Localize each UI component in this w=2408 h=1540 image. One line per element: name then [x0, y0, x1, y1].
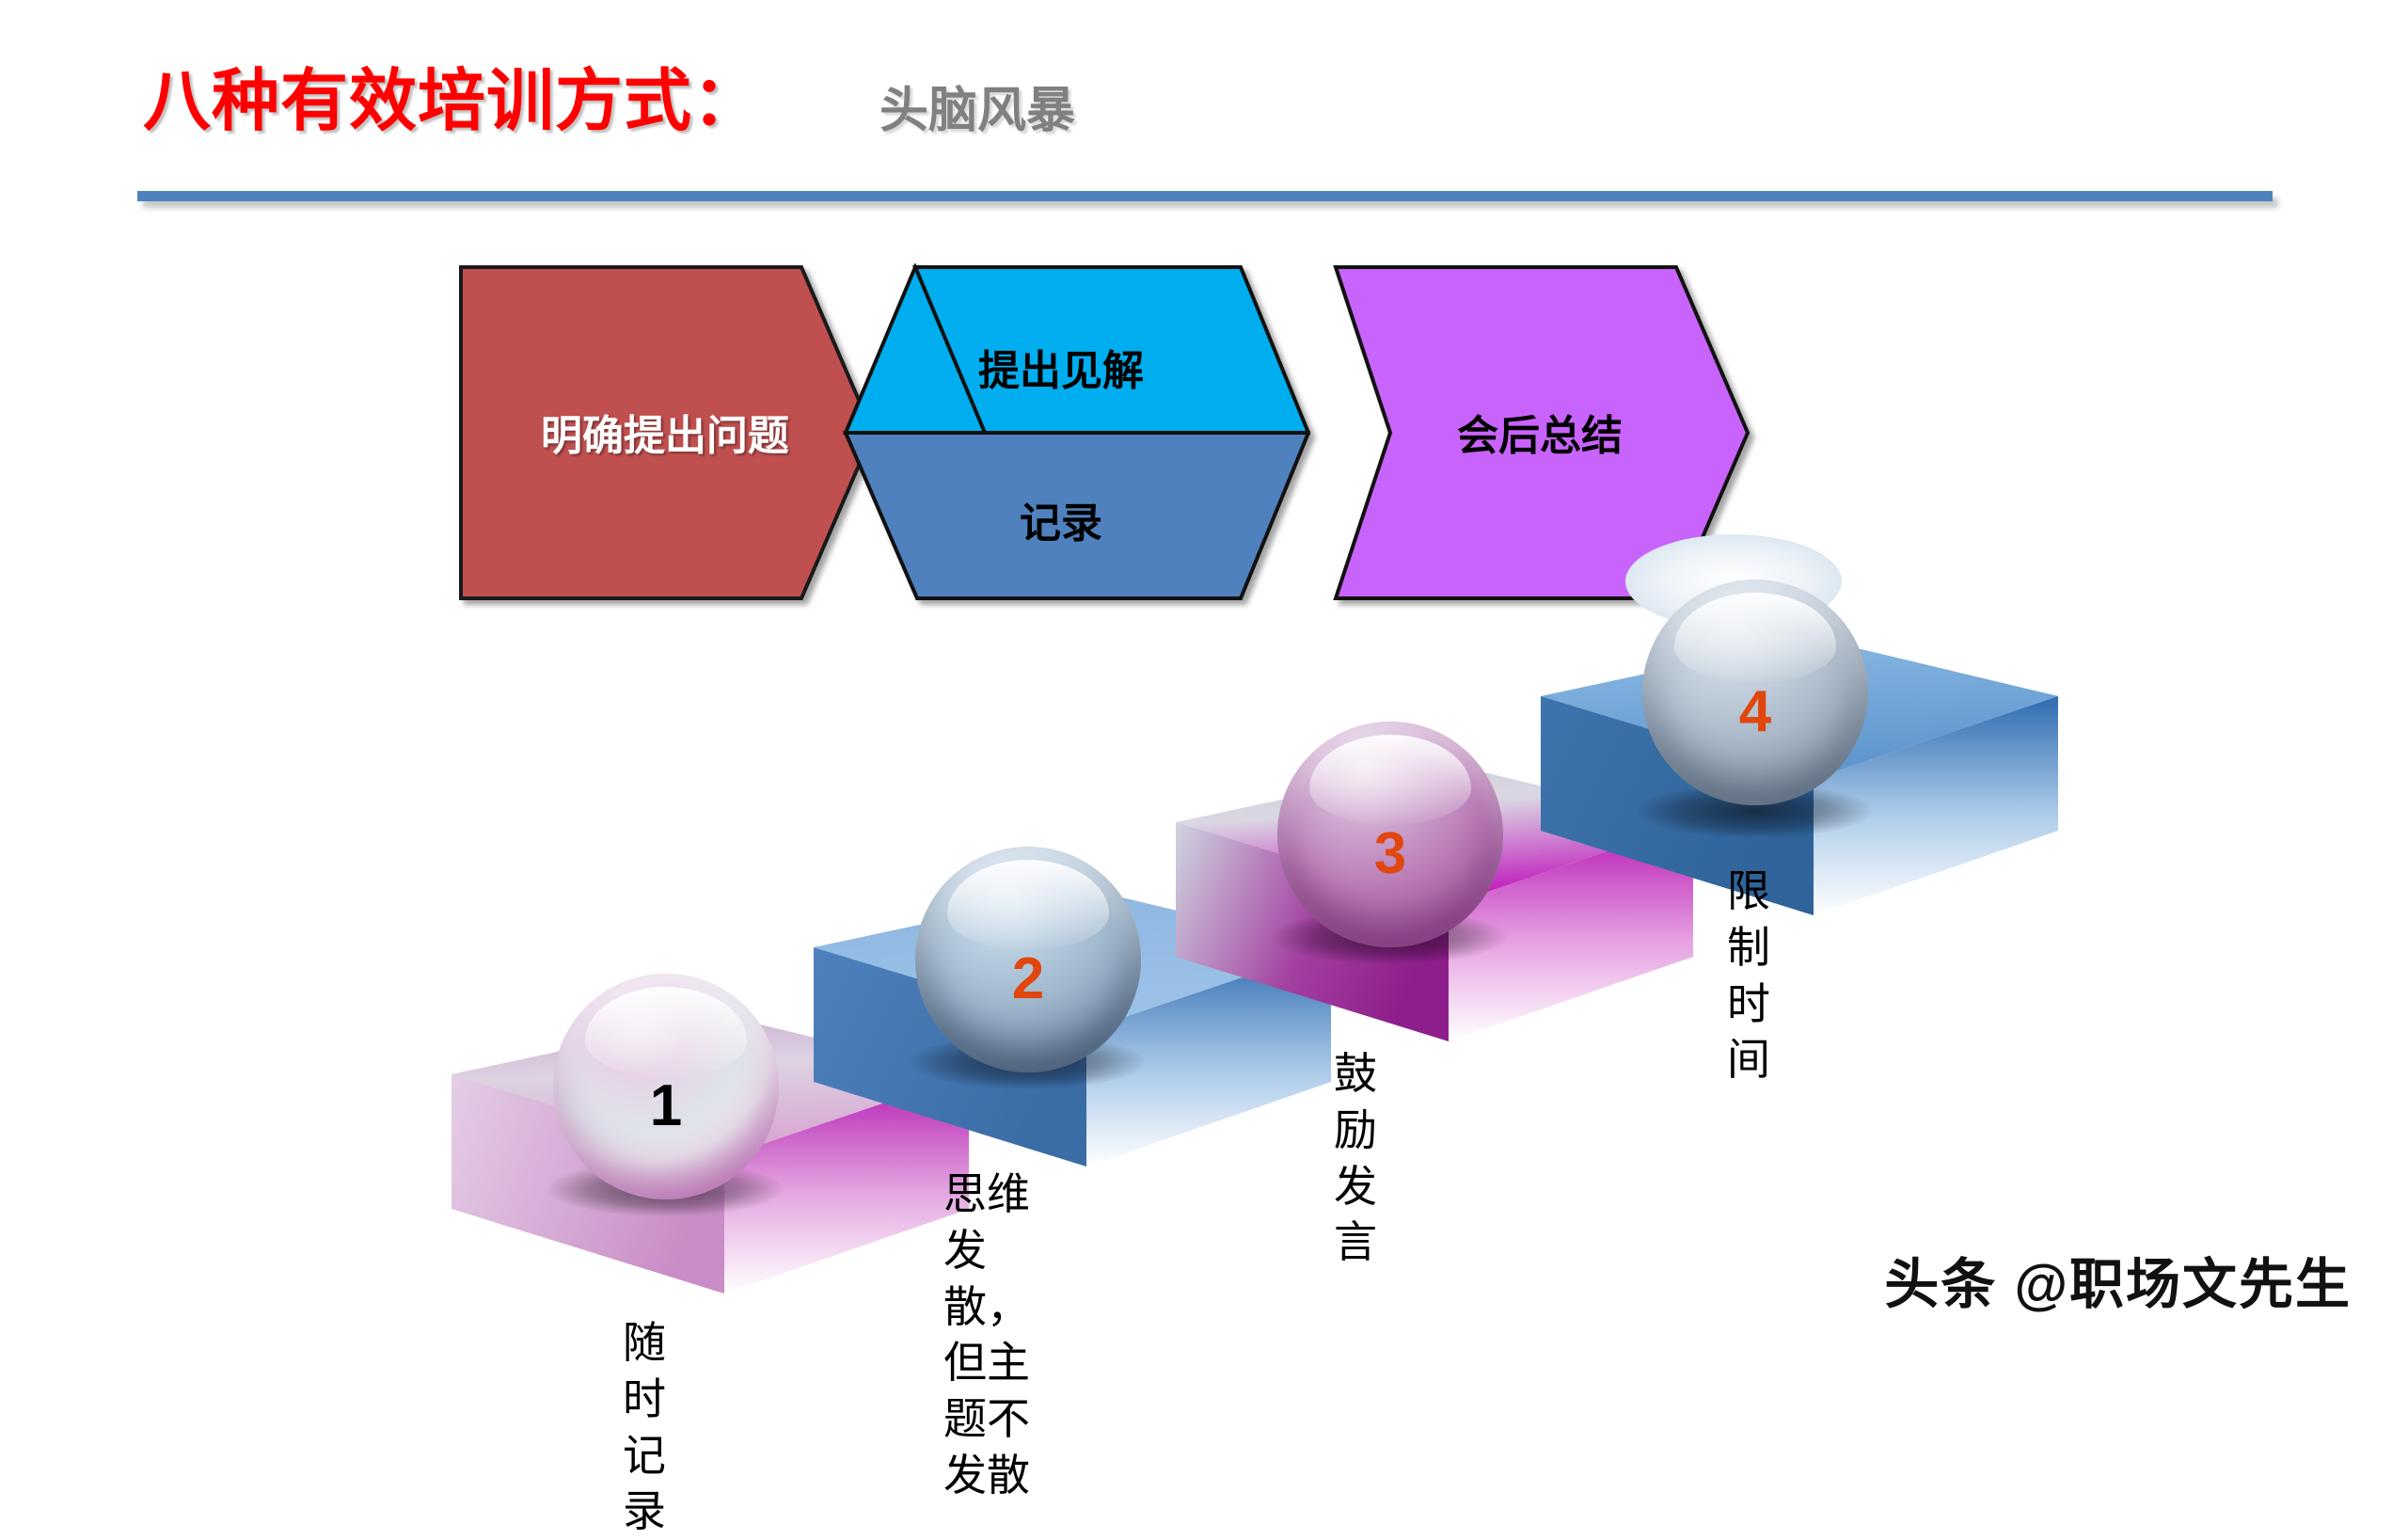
page-subtitle: 头脑风暴	[879, 87, 1075, 135]
slide-header: 八种有效培训方式： 头脑风暴	[0, 0, 2408, 216]
step-1-caption: 随时记录	[623, 1315, 666, 1540]
step-3-caption: 鼓励发言	[1334, 1046, 1377, 1271]
chevron-shape-split	[812, 263, 1310, 602]
step-1-sphere[interactable]: 1	[553, 974, 779, 1199]
sphere-gloss-highlight	[1674, 593, 1837, 683]
stair-steps-diagram: 1 随时记录	[0, 564, 2408, 1355]
sphere-gloss-highlight	[1309, 735, 1472, 825]
page-title: 八种有效培训方式：	[143, 68, 761, 135]
sphere-gloss-highlight	[585, 987, 748, 1077]
slide-canvas: 八种有效培训方式： 头脑风暴 明确提出问题 提出见解 记	[0, 0, 2408, 1355]
chevron-step-3-label: 会后总结	[1328, 416, 1751, 457]
step-3-number: 3	[1277, 825, 1503, 883]
chevron-step-2-label-bottom: 记录	[812, 503, 1310, 545]
step-3-sphere[interactable]: 3	[1277, 722, 1503, 947]
step-4-number: 4	[1642, 683, 1868, 741]
step-4-sphere[interactable]: 4	[1642, 579, 1868, 805]
step-1-number: 1	[553, 1077, 779, 1135]
chevron-step-2[interactable]: 提出见解 记录	[812, 263, 1310, 602]
step-4-caption: 限制时间	[1727, 864, 1770, 1088]
sphere-gloss-highlight	[947, 860, 1110, 950]
chevron-step-2-label-top: 提出见解	[812, 351, 1310, 392]
step-2-sphere[interactable]: 2	[915, 847, 1141, 1072]
title-divider-rule	[137, 191, 2273, 201]
step-2-caption: 思维发散， 但主题不发散	[943, 1167, 1030, 1504]
step-2-number: 2	[915, 950, 1141, 1008]
watermark-text: 头条 @职场文先生	[1884, 1240, 2352, 1319]
